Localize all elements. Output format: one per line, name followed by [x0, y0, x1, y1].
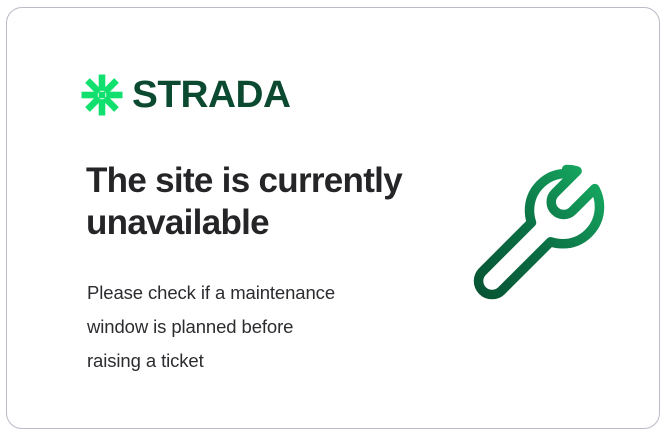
description-line-1: Please check if a maintenance	[87, 276, 407, 310]
strada-asterisk-icon	[81, 74, 123, 116]
description-line-2: window is planned before	[87, 310, 407, 344]
page-description: Please check if a maintenance window is …	[87, 276, 407, 378]
wrench-icon	[462, 160, 622, 320]
error-page: STRADA The site is currently unavailable…	[0, 0, 666, 436]
brand-logo: STRADA	[81, 74, 287, 116]
brand-wordmark: STRADA	[132, 76, 290, 114]
page-title: The site is currently unavailable	[86, 160, 416, 244]
description-line-3: raising a ticket	[87, 344, 407, 378]
status-card: STRADA The site is currently unavailable…	[6, 7, 660, 429]
